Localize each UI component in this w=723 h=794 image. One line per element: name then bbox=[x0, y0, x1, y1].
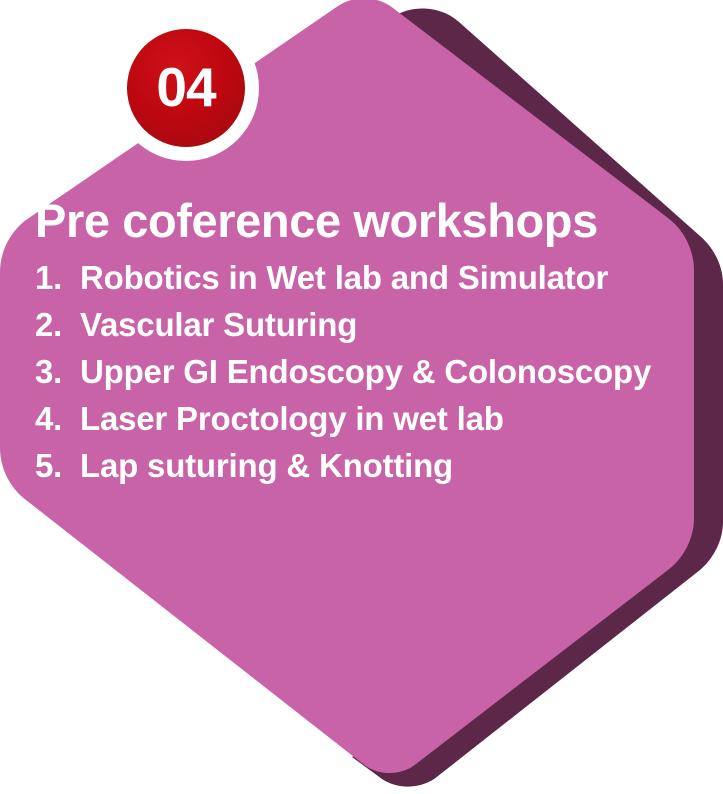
list-item: 4. Laser Proctology in wet lab bbox=[35, 395, 690, 442]
list-item: 5. Lap suturing & Knotting bbox=[35, 442, 690, 489]
list-item-label: Robotics in Wet lab and Simulator bbox=[80, 254, 680, 301]
list-item-label: Vascular Suturing bbox=[80, 301, 680, 348]
list-item: 2. Vascular Suturing bbox=[35, 301, 690, 348]
list-item-label: Upper GI Endoscopy & Colonoscopy bbox=[80, 348, 680, 395]
list-item-number: 2. bbox=[35, 301, 80, 348]
list-item-label: Laser Proctology in wet lab bbox=[80, 395, 680, 442]
list-item: 1. Robotics in Wet lab and Simulator bbox=[35, 254, 690, 301]
workshop-list: 1. Robotics in Wet lab and Simulator 2. … bbox=[35, 254, 690, 489]
list-item-number: 5. bbox=[35, 442, 80, 489]
step-number-badge: 04 bbox=[113, 15, 259, 161]
list-item: 3. Upper GI Endoscopy & Colonoscopy bbox=[35, 348, 690, 395]
infographic-canvas: Pre coference workshops 1. Robotics in W… bbox=[0, 0, 723, 794]
badge-number-label: 04 bbox=[156, 60, 215, 115]
badge-disc: 04 bbox=[127, 29, 245, 147]
list-item-number: 1. bbox=[35, 254, 80, 301]
list-item-number: 4. bbox=[35, 395, 80, 442]
page-title: Pre coference workshops bbox=[35, 196, 690, 246]
list-item-number: 3. bbox=[35, 348, 80, 395]
card-text-block: Pre coference workshops 1. Robotics in W… bbox=[0, 196, 700, 489]
list-item-label: Lap suturing & Knotting bbox=[80, 442, 680, 489]
